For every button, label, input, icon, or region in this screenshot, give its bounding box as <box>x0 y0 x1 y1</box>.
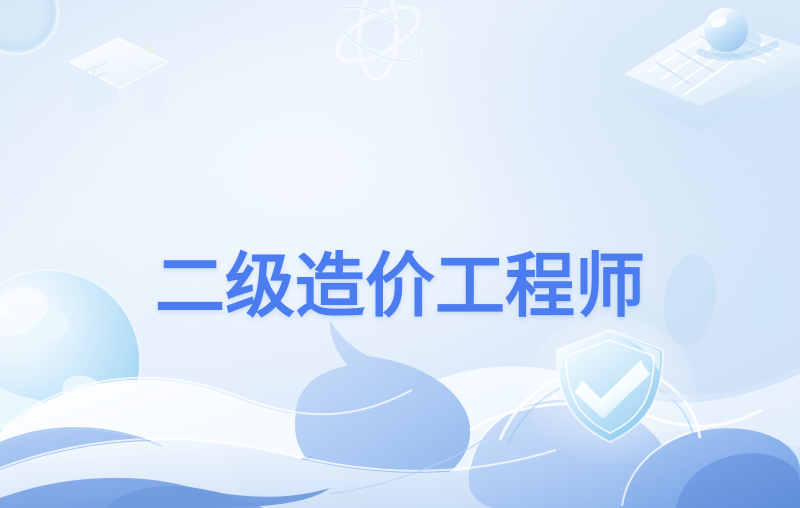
exam-banner: 二级造价工程师 <box>0 0 800 508</box>
shield-check-icon <box>0 0 800 508</box>
